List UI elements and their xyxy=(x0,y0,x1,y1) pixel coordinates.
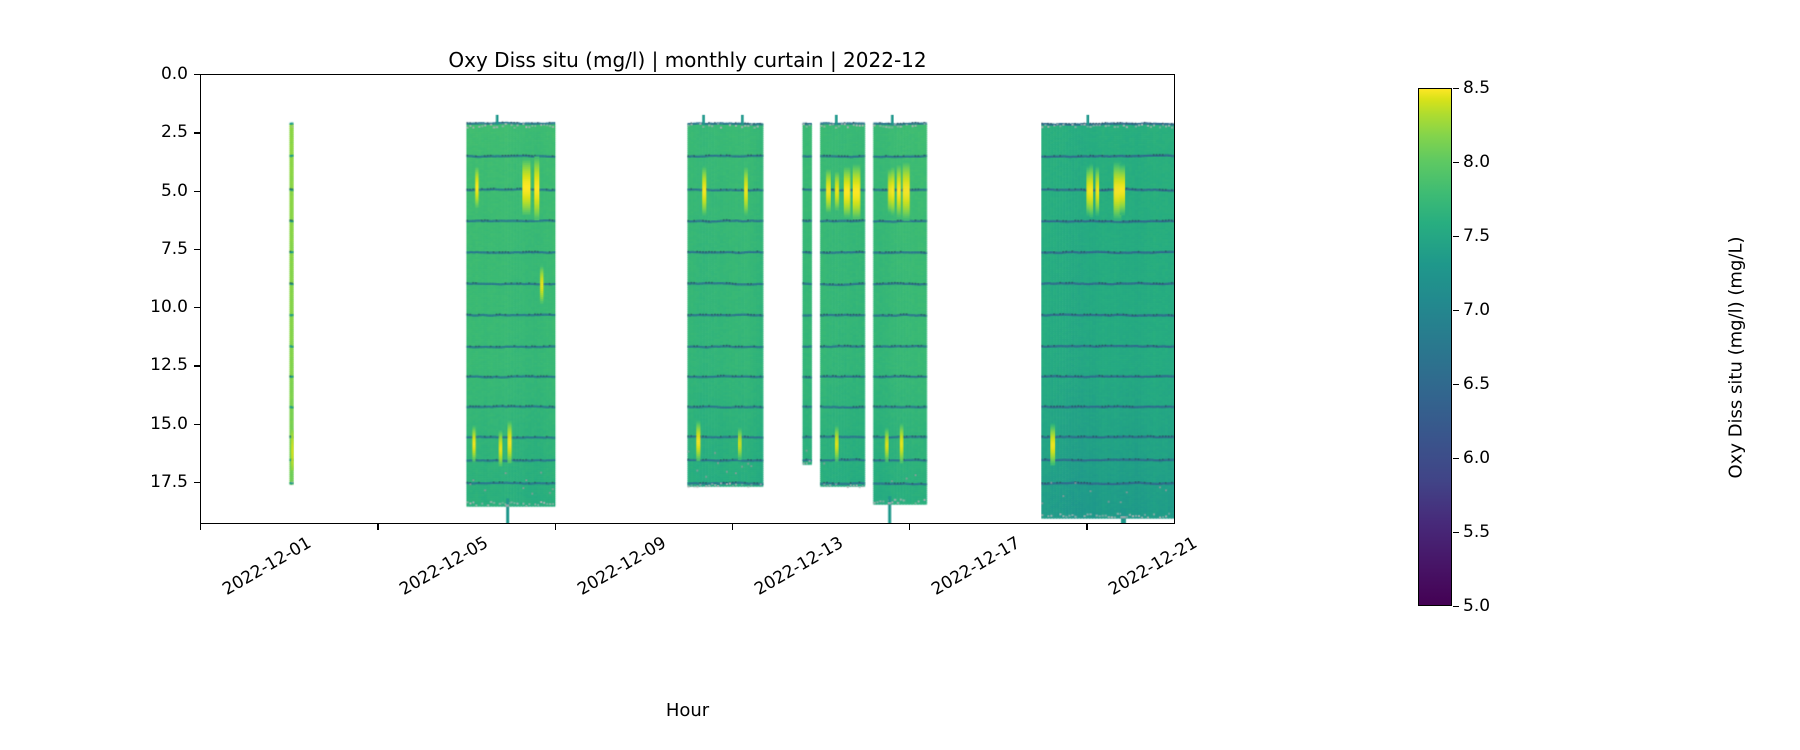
x-tick-mark xyxy=(732,524,733,530)
x-tick-label: 2022-12-21 xyxy=(1106,533,1202,600)
x-tick-mark xyxy=(1086,524,1087,530)
y-tick-label: 10.0 xyxy=(150,297,188,317)
y-tick-mark xyxy=(194,249,200,250)
y-tick-mark xyxy=(194,424,200,425)
colorbar-tick-label: 5.0 xyxy=(1463,596,1490,616)
x-tick-label: 2022-12-09 xyxy=(574,533,670,600)
colorbar-tick-mark xyxy=(1453,532,1459,533)
colorbar-tick-mark xyxy=(1453,458,1459,459)
y-tick-mark xyxy=(194,191,200,192)
colorbar-tick-label: 6.0 xyxy=(1463,448,1490,468)
colorbar-tick-mark xyxy=(1453,310,1459,311)
y-tick-mark xyxy=(194,307,200,308)
colorbar-tick-label: 8.5 xyxy=(1463,78,1490,98)
x-tick-mark xyxy=(555,524,556,530)
y-tick-label: 15.0 xyxy=(150,414,188,434)
y-tick-mark xyxy=(194,365,200,366)
y-tick-label: 7.5 xyxy=(161,239,188,259)
x-tick-mark xyxy=(377,524,378,530)
colorbar-tick-label: 7.0 xyxy=(1463,300,1490,320)
colorbar-gradient xyxy=(1418,88,1452,606)
x-tick-label: 2022-12-13 xyxy=(751,533,847,600)
y-tick-mark xyxy=(194,482,200,483)
y-tick-label: 2.5 xyxy=(161,122,188,142)
x-tick-label: 2022-12-17 xyxy=(928,533,1024,600)
y-tick-label: 12.5 xyxy=(150,355,188,375)
y-tick-mark xyxy=(194,132,200,133)
y-axis: Depth (m) 0.02.55.07.510.012.515.017.5 xyxy=(120,0,188,750)
colorbar-tick-mark xyxy=(1453,384,1459,385)
y-tick-label: 17.5 xyxy=(150,472,188,492)
x-tick-mark xyxy=(200,524,201,530)
colorbar-tick-mark xyxy=(1453,162,1459,163)
colorbar-title: Oxy Diss situ (mg/l) (mg/L) xyxy=(1726,118,1747,598)
plot-area xyxy=(200,74,1175,524)
colorbar-tick-label: 5.5 xyxy=(1463,522,1490,542)
x-tick-mark xyxy=(909,524,910,530)
heatmap-canvas xyxy=(201,75,1174,523)
x-axis-title: Hour xyxy=(200,700,1175,721)
colorbar-tick-label: 7.5 xyxy=(1463,226,1490,246)
chart-root: Oxy Diss situ (mg/l) | monthly curtain |… xyxy=(0,0,1800,750)
colorbar-tick-label: 8.0 xyxy=(1463,152,1490,172)
y-tick-label: 5.0 xyxy=(161,181,188,201)
colorbar-tick-label: 6.5 xyxy=(1463,374,1490,394)
colorbar-tick-mark xyxy=(1453,88,1459,89)
colorbar-tick-mark xyxy=(1453,606,1459,607)
x-tick-label: 2022-12-05 xyxy=(397,533,493,600)
y-tick-mark xyxy=(194,74,200,75)
colorbar: 8.58.07.57.06.56.05.55.0 xyxy=(1418,88,1452,606)
page-title: Oxy Diss situ (mg/l) | monthly curtain |… xyxy=(200,48,1175,72)
colorbar-tick-mark xyxy=(1453,236,1459,237)
x-tick-label: 2022-12-01 xyxy=(219,533,315,600)
y-tick-label: 0.0 xyxy=(161,64,188,84)
